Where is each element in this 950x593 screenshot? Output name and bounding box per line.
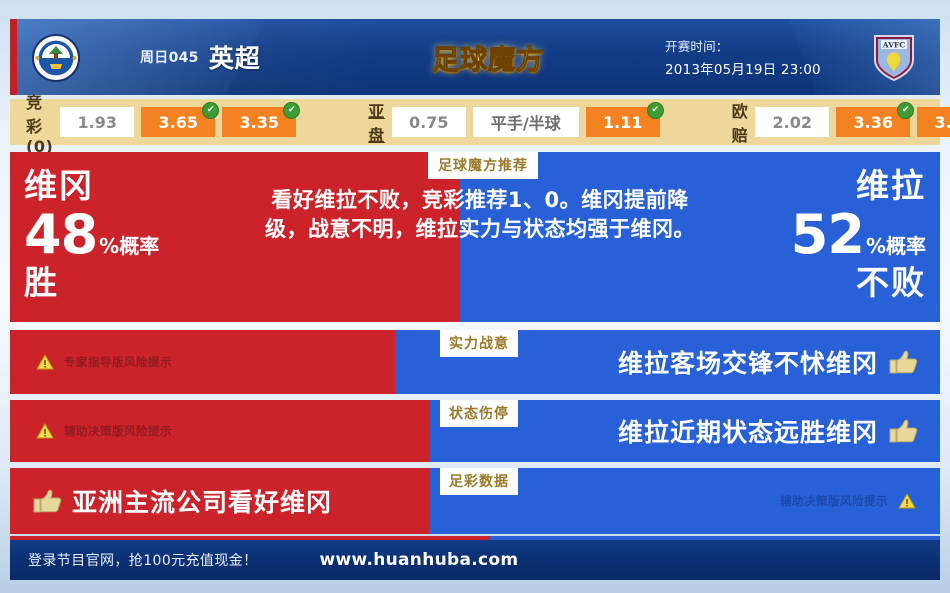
match-info: 周日045 英超 bbox=[140, 19, 261, 95]
away-outcome-label: 不败 bbox=[791, 266, 926, 299]
row-headline: 亚洲主流公司看好维冈 bbox=[32, 483, 332, 519]
odds-value: 2.02 bbox=[773, 113, 812, 132]
row-headline: 维拉客场交锋不怵维冈 bbox=[618, 344, 918, 380]
home-outcome-label: 胜 bbox=[24, 266, 159, 299]
kickoff-value: 2013年05月19日 23:00 bbox=[665, 58, 821, 78]
away-probability: 维拉 52 %概率 不败 bbox=[791, 169, 926, 299]
footer-site-url[interactable]: www.huanhuba.com bbox=[320, 550, 519, 570]
row-headline-text: 维拉近期状态远胜维冈 bbox=[618, 413, 878, 449]
league-name: 英超 bbox=[209, 39, 261, 75]
odds-cell[interactable]: 3.36 ✔ bbox=[836, 107, 910, 137]
row-headline-text: 亚洲主流公司看好维冈 bbox=[72, 483, 332, 519]
odds-group-label: 亚盘 bbox=[368, 98, 385, 146]
check-icon: ✔ bbox=[647, 102, 664, 119]
risk-note-text: 辅助决策版风险提示 bbox=[64, 423, 172, 439]
row-red-panel: 辅助决策版风险提示 bbox=[10, 400, 430, 462]
check-icon: ✔ bbox=[897, 102, 914, 119]
wigan-athletic-crest bbox=[31, 33, 81, 83]
check-icon: ✔ bbox=[283, 102, 300, 119]
footer-promo-text: 登录节目官网，抢100元充值现金！ bbox=[28, 550, 258, 570]
odds-cell-handicap[interactable]: 平手/半球 bbox=[473, 107, 579, 137]
prediction-band: 维冈 48 %概率 胜 维拉 52 %概率 不败 足球魔方推荐 看好维拉不败，竞… bbox=[10, 152, 940, 322]
warning-triangle-icon bbox=[898, 493, 916, 509]
aston-villa-crest: AVFC bbox=[869, 31, 919, 81]
footer-accent-red bbox=[10, 536, 490, 540]
away-probability-value: 52 bbox=[791, 208, 864, 262]
odds-value: 1.93 bbox=[78, 113, 117, 132]
home-probability-unit: %概率 bbox=[99, 236, 159, 256]
home-probability-value: 48 bbox=[24, 208, 97, 262]
odds-value: 平手/半球 bbox=[491, 110, 561, 134]
brand-logo: 足球魔方 bbox=[418, 33, 558, 81]
thumbs-up-icon bbox=[888, 418, 918, 444]
category-tab: 足彩数据 bbox=[440, 468, 518, 495]
odds-cell[interactable]: 0.75 bbox=[392, 107, 466, 137]
category-tab: 实力战意 bbox=[440, 330, 518, 357]
round-label: 周日045 bbox=[140, 47, 199, 67]
risk-note: 辅助决策版风险提示 bbox=[36, 423, 172, 439]
broadcast-graphic: 周日045 英超 足球魔方 开赛时间： 2013年05月19日 23:00 AV… bbox=[0, 0, 950, 593]
odds-bar: 竞彩(0) 1.93 3.65 ✔ 3.35 ✔ 亚盘 0.75 平手/半球 1… bbox=[10, 99, 940, 145]
warning-triangle-icon bbox=[36, 423, 54, 439]
info-row-betting-data: 亚洲主流公司看好维冈 辅助决策版风险提示 足彩数据 bbox=[10, 468, 940, 534]
info-row-strength: 专家指导版风险提示 维拉客场交锋不怵维冈 实力战意 bbox=[10, 330, 940, 394]
odds-cell[interactable]: 3.65 ✔ bbox=[141, 107, 215, 137]
footer-bar: 登录节目官网，抢100元充值现金！ www.huanhuba.com bbox=[10, 540, 940, 580]
row-headline-text: 维拉客场交锋不怵维冈 bbox=[618, 344, 878, 380]
thumbs-up-icon bbox=[32, 488, 62, 514]
odds-value: 1.11 bbox=[603, 113, 642, 132]
row-red-panel: 专家指导版风险提示 bbox=[10, 330, 395, 394]
warning-triangle-icon bbox=[36, 354, 54, 370]
info-row-form: 辅助决策版风险提示 维拉近期状态远胜维冈 状态伤停 bbox=[10, 400, 940, 462]
footer-accent-blue bbox=[490, 536, 940, 540]
odds-group-label: 竞彩(0) bbox=[26, 89, 53, 156]
odds-cell[interactable]: 1.11 ✔ bbox=[586, 107, 660, 137]
recommendation-tab: 足球魔方推荐 bbox=[428, 152, 538, 179]
svg-text:AVFC: AVFC bbox=[882, 41, 905, 50]
odds-value: 0.75 bbox=[409, 113, 448, 132]
odds-group-label: 欧赔 bbox=[732, 98, 749, 146]
thumbs-up-icon bbox=[888, 349, 918, 375]
row-red-panel: 亚洲主流公司看好维冈 bbox=[10, 468, 430, 534]
odds-cell[interactable]: 3.35 ✔ bbox=[222, 107, 296, 137]
kickoff-label: 开赛时间： bbox=[665, 36, 821, 55]
risk-note: 辅助决策版风险提示 bbox=[780, 493, 916, 509]
odds-cell[interactable]: 2.02 bbox=[755, 107, 829, 137]
odds-cell[interactable]: 1.93 bbox=[60, 107, 134, 137]
brand-logo-text: 足球魔方 bbox=[432, 38, 544, 77]
odds-group-jingcai: 竞彩(0) 1.93 3.65 ✔ 3.35 ✔ bbox=[26, 89, 296, 156]
odds-value: 3.54 bbox=[935, 113, 950, 132]
home-probability: 维冈 48 %概率 胜 bbox=[24, 169, 159, 299]
recommendation-text: 看好维拉不败，竞彩推荐1、0。维冈提前降级，战意不明，维拉实力与状态均强于维冈。 bbox=[250, 186, 710, 244]
odds-value: 3.65 bbox=[159, 113, 198, 132]
risk-note-text: 专家指导版风险提示 bbox=[64, 354, 172, 370]
risk-note-text: 辅助决策版风险提示 bbox=[780, 493, 888, 509]
row-headline: 维拉近期状态远胜维冈 bbox=[618, 413, 918, 449]
risk-note: 专家指导版风险提示 bbox=[36, 354, 172, 370]
odds-group-oupei: 欧赔 2.02 3.36 ✔ 3.54 ✔ bbox=[732, 98, 950, 146]
kickoff-block: 开赛时间： 2013年05月19日 23:00 bbox=[665, 19, 821, 95]
category-tab: 状态伤停 bbox=[440, 400, 518, 427]
away-probability-unit: %概率 bbox=[866, 236, 926, 256]
check-icon: ✔ bbox=[202, 102, 219, 119]
odds-value: 3.35 bbox=[240, 113, 279, 132]
header-red-accent bbox=[10, 19, 17, 95]
away-team-name: 维拉 bbox=[856, 166, 926, 205]
odds-cell[interactable]: 3.54 ✔ bbox=[917, 107, 950, 137]
odds-value: 3.36 bbox=[854, 113, 893, 132]
odds-group-yapan: 亚盘 0.75 平手/半球 1.11 ✔ bbox=[368, 98, 660, 146]
home-team-name: 维冈 bbox=[24, 166, 94, 205]
match-header: 周日045 英超 足球魔方 开赛时间： 2013年05月19日 23:00 AV… bbox=[10, 19, 940, 95]
